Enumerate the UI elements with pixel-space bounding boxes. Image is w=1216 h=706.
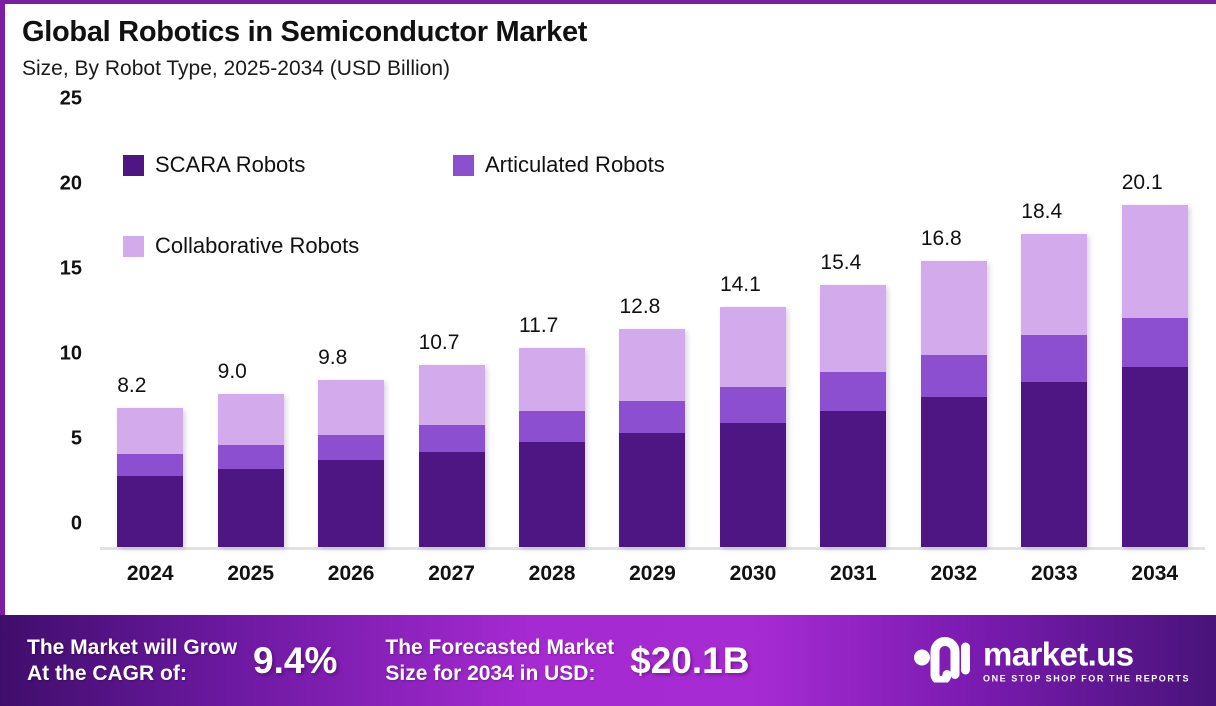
brand-logo[interactable]: market.us ONE STOP SHOP FOR THE REPORTS: [911, 634, 1190, 687]
bar-value-label: 18.4: [1021, 200, 1062, 224]
y-axis-tick: 15: [60, 258, 82, 281]
y-axis-tick: 25: [60, 88, 82, 111]
y-axis-tick: 5: [71, 428, 82, 451]
chart-title: Global Robotics in Semiconductor Market: [22, 16, 587, 49]
x-axis-label: 2034: [1105, 562, 1205, 586]
bar-segment-collaborative[interactable]: [619, 329, 685, 400]
footer-banner: The Market will Grow At the CAGR of: 9.4…: [0, 615, 1216, 706]
bar-segment-collaborative[interactable]: [820, 285, 886, 372]
bar-segment-articulated[interactable]: [419, 425, 485, 452]
stacked-bar[interactable]: 18.4: [1021, 234, 1087, 547]
bar-column[interactable]: 15.4: [803, 122, 903, 547]
bar-segment-scara[interactable]: [820, 411, 886, 547]
legend-swatch-icon: [453, 155, 474, 176]
cagr-caption-line1: The Market will Grow: [27, 635, 237, 661]
stacked-bar[interactable]: 14.1: [720, 307, 786, 547]
bar-segment-scara[interactable]: [519, 442, 585, 547]
x-axis-label: 2028: [502, 562, 602, 586]
bar-column[interactable]: 16.8: [904, 122, 1004, 547]
logo-text-wrap: market.us ONE STOP SHOP FOR THE REPORTS: [983, 638, 1190, 684]
bar-segment-scara[interactable]: [117, 476, 183, 547]
forecast-caption-line2: Size for 2034 in USD:: [385, 661, 614, 687]
forecast-caption-line1: The Forecasted Market: [385, 635, 614, 661]
bar-segment-articulated[interactable]: [921, 355, 987, 398]
legend-label: Articulated Robots: [485, 152, 665, 178]
x-axis-line: [100, 547, 1205, 550]
x-axis-label: 2024: [100, 562, 200, 586]
chart-legend: SCARA RobotsArticulated RobotsCollaborat…: [123, 152, 743, 259]
bar-segment-articulated[interactable]: [218, 445, 284, 469]
logo-name: market.us: [983, 638, 1190, 671]
chart-subtitle: Size, By Robot Type, 2025-2034 (USD Bill…: [22, 57, 587, 81]
bar-segment-collaborative[interactable]: [519, 348, 585, 411]
bar-segment-articulated[interactable]: [1021, 335, 1087, 383]
bar-segment-articulated[interactable]: [720, 387, 786, 423]
cagr-value: 9.4%: [253, 640, 337, 682]
bar-value-label: 12.8: [619, 295, 660, 319]
stacked-bar[interactable]: 15.4: [820, 285, 886, 547]
legend-item[interactable]: SCARA Robots: [123, 152, 453, 178]
legend-label: SCARA Robots: [155, 152, 305, 178]
cagr-block: The Market will Grow At the CAGR of: 9.4…: [27, 635, 337, 686]
bar-segment-collaborative[interactable]: [1021, 234, 1087, 334]
stacked-bar[interactable]: 20.1: [1122, 205, 1188, 547]
bar-value-label: 9.8: [318, 346, 347, 370]
bar-segment-collaborative[interactable]: [1122, 205, 1188, 317]
bar-segment-scara[interactable]: [619, 433, 685, 547]
bar-segment-scara[interactable]: [1021, 382, 1087, 547]
bar-segment-scara[interactable]: [318, 460, 384, 547]
x-axis-label: 2027: [401, 562, 501, 586]
x-axis-label: 2032: [904, 562, 1004, 586]
bar-segment-collaborative[interactable]: [921, 261, 987, 355]
bar-value-label: 16.8: [921, 227, 962, 251]
x-axis-label: 2029: [602, 562, 702, 586]
y-axis-tick: 0: [71, 513, 82, 536]
bar-value-label: 20.1: [1122, 171, 1163, 195]
bar-segment-scara[interactable]: [419, 452, 485, 547]
forecast-value: $20.1B: [630, 640, 749, 682]
bar-segment-articulated[interactable]: [519, 411, 585, 442]
bar-segment-scara[interactable]: [1122, 367, 1188, 547]
bar-segment-articulated[interactable]: [619, 401, 685, 433]
legend-swatch-icon: [123, 155, 144, 176]
chart-infographic: Global Robotics in Semiconductor Market …: [0, 0, 1216, 706]
y-axis-tick: 20: [60, 173, 82, 196]
stacked-bar[interactable]: 16.8: [921, 261, 987, 547]
bar-segment-collaborative[interactable]: [720, 307, 786, 387]
forecast-caption: The Forecasted Market Size for 2034 in U…: [385, 635, 614, 686]
y-axis-tick: 10: [60, 343, 82, 366]
bar-value-label: 14.1: [720, 273, 761, 297]
bar-value-label: 15.4: [820, 251, 861, 275]
market-us-logo-icon: [911, 634, 973, 687]
bar-segment-collaborative[interactable]: [117, 408, 183, 454]
bar-segment-scara[interactable]: [218, 469, 284, 547]
forecast-block: The Forecasted Market Size for 2034 in U…: [385, 635, 749, 686]
bar-value-label: 8.2: [117, 374, 146, 398]
chart-header: Global Robotics in Semiconductor Market …: [22, 16, 587, 81]
bar-segment-articulated[interactable]: [318, 435, 384, 461]
bar-segment-articulated[interactable]: [1122, 318, 1188, 367]
bar-segment-articulated[interactable]: [117, 454, 183, 476]
x-axis-label: 2033: [1004, 562, 1104, 586]
x-axis-label: 2030: [703, 562, 803, 586]
stacked-bar[interactable]: 11.7: [519, 348, 585, 547]
logo-tagline: ONE STOP SHOP FOR THE REPORTS: [983, 675, 1190, 684]
cagr-caption: The Market will Grow At the CAGR of:: [27, 635, 237, 686]
legend-item[interactable]: Articulated Robots: [453, 152, 733, 178]
bar-segment-scara[interactable]: [921, 397, 987, 547]
stacked-bar[interactable]: 10.7: [419, 365, 485, 547]
stacked-bar[interactable]: 9.8: [318, 380, 384, 547]
bar-segment-articulated[interactable]: [820, 372, 886, 411]
stacked-bar[interactable]: 12.8: [619, 329, 685, 547]
x-axis-label: 2026: [301, 562, 401, 586]
bar-segment-collaborative[interactable]: [419, 365, 485, 425]
bar-segment-collaborative[interactable]: [218, 394, 284, 445]
legend-label: Collaborative Robots: [155, 233, 359, 259]
legend-item[interactable]: Collaborative Robots: [123, 233, 453, 259]
bar-column[interactable]: 20.1: [1105, 122, 1205, 547]
bar-value-label: 11.7: [519, 314, 558, 338]
bar-value-label: 10.7: [419, 331, 460, 355]
x-axis-label: 2031: [803, 562, 903, 586]
x-axis-label: 2025: [200, 562, 300, 586]
bar-segment-scara[interactable]: [720, 423, 786, 547]
stacked-bar[interactable]: 8.2: [117, 408, 183, 547]
stacked-bar[interactable]: 9.0: [218, 394, 284, 547]
x-axis-labels: 2024202520262027202820292030203120322033…: [100, 562, 1205, 586]
cagr-caption-line2: At the CAGR of:: [27, 661, 237, 687]
bar-column[interactable]: 18.4: [1004, 122, 1104, 547]
legend-swatch-icon: [123, 236, 144, 257]
bar-value-label: 9.0: [218, 360, 247, 384]
bar-segment-collaborative[interactable]: [318, 380, 384, 434]
